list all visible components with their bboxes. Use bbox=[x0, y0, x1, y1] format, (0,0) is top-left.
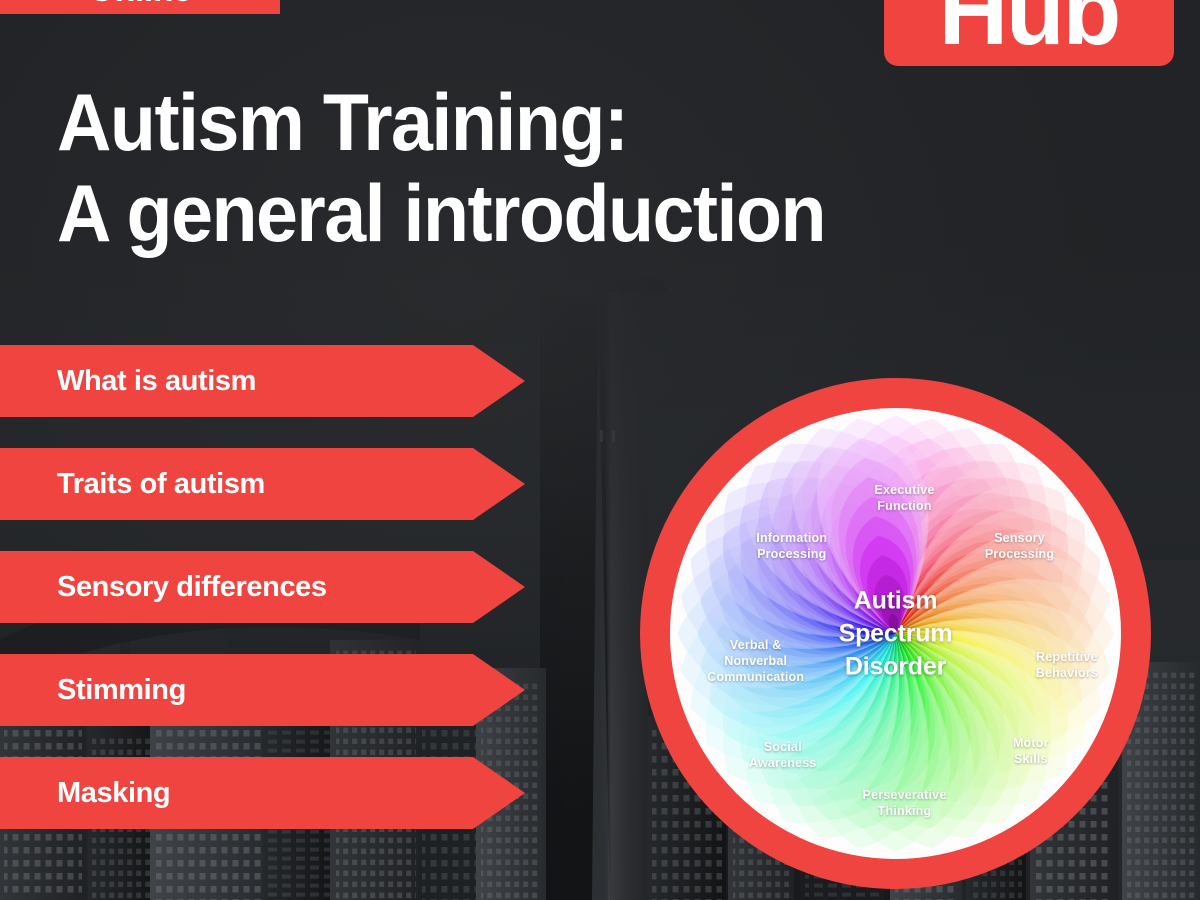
topic-item-label: Sensory differences bbox=[57, 571, 327, 604]
topic-item-label: What is autism bbox=[57, 365, 256, 398]
online-badge: Online bbox=[0, 0, 280, 14]
online-badge-label: Online bbox=[89, 0, 192, 10]
autism-spectrum-wheel: Autism Spectrum Disorder Executive Funct… bbox=[640, 378, 1151, 889]
topic-item-label: Traits of autism bbox=[57, 468, 265, 501]
color-spiral-graphic bbox=[670, 408, 1121, 859]
topic-item-label: Masking bbox=[57, 777, 170, 810]
topic-item-label: Stimming bbox=[57, 674, 186, 707]
hub-logo: Hub bbox=[884, 0, 1174, 66]
topic-list: What is autism Traits of autism Sensory … bbox=[0, 345, 560, 829]
wheel-inner-disc: Autism Spectrum Disorder Executive Funct… bbox=[670, 408, 1121, 859]
topic-item-traits-of-autism[interactable]: Traits of autism bbox=[0, 448, 525, 520]
topic-item-stimming[interactable]: Stimming bbox=[0, 654, 525, 726]
topic-item-sensory-differences[interactable]: Sensory differences bbox=[0, 551, 525, 623]
hub-logo-label: Hub bbox=[939, 0, 1120, 60]
topic-item-masking[interactable]: Masking bbox=[0, 757, 525, 829]
page-title: Autism Training: A general introduction bbox=[57, 78, 968, 259]
topic-item-what-is-autism[interactable]: What is autism bbox=[0, 345, 525, 417]
